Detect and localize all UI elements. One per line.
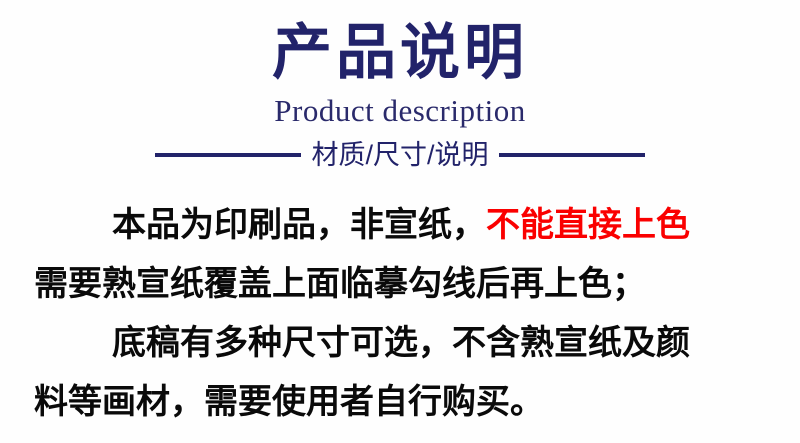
- description-line-1-warning: 不能直接上色: [486, 206, 690, 244]
- page-title: 产品说明: [0, 18, 800, 88]
- description-line-3-normal: 底稿有多种尺寸可选，不含熟宣纸及颜: [112, 324, 690, 362]
- product-description-page: 产品说明 Product description 材质/尺寸/说明 本品为印刷品…: [0, 0, 800, 443]
- description-line-4: 料等画材，需要使用者自行购买。: [0, 373, 800, 432]
- section-divider: 材质/尺寸/说明: [0, 136, 800, 174]
- divider-rule-right: [499, 153, 645, 157]
- description-line-1-normal: 本品为印刷品，非宣纸，: [112, 206, 486, 244]
- description-body: 本品为印刷品，非宣纸，不能直接上色 需要熟宣纸覆盖上面临摹勾线后再上色； 底稿有…: [0, 196, 800, 432]
- divider-rule-left: [155, 153, 301, 157]
- description-line-3: 底稿有多种尺寸可选，不含熟宣纸及颜: [0, 314, 800, 373]
- description-line-2: 需要熟宣纸覆盖上面临摹勾线后再上色；: [0, 255, 800, 314]
- description-line-2-normal: 需要熟宣纸覆盖上面临摹勾线后再上色；: [34, 265, 646, 303]
- description-line-1: 本品为印刷品，非宣纸，不能直接上色: [0, 196, 800, 255]
- page-subtitle: Product description: [0, 93, 800, 129]
- divider-label: 材质/尺寸/说明: [311, 139, 488, 171]
- description-line-4-normal: 料等画材，需要使用者自行购买。: [34, 383, 544, 421]
